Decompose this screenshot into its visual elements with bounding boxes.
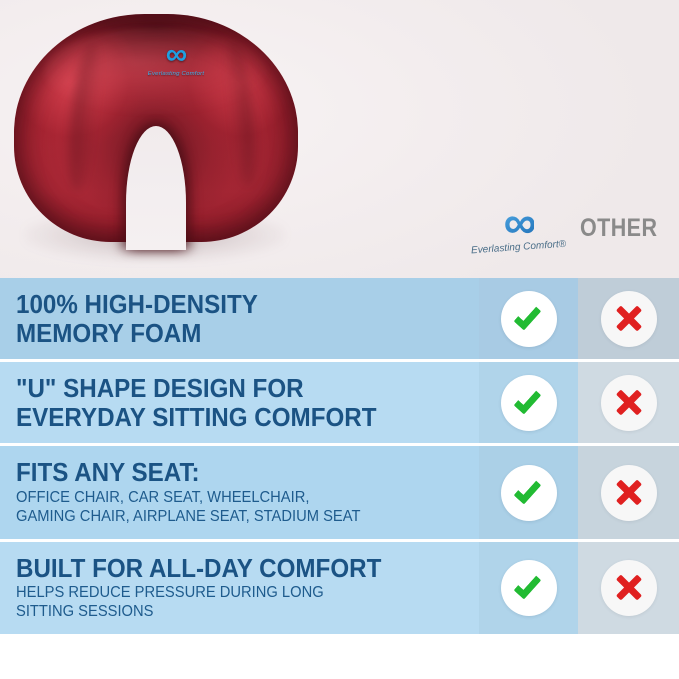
theirs-cell (578, 542, 679, 634)
theirs-cell (578, 446, 679, 538)
cushion-wordmark: Everlasting Comfort (148, 71, 205, 77)
feature-description-cell: FITS ANY SEAT: OFFICE CHAIR, CAR SEAT, W… (0, 446, 479, 538)
cushion-brand-logo: ∞ Everlasting Comfort (134, 42, 218, 90)
cross-icon (615, 479, 643, 507)
cushion-u-notch (126, 126, 186, 250)
cross-badge (601, 375, 657, 431)
cross-badge (601, 560, 657, 616)
feature-headline: BUILT FOR ALL-DAY COMFORT (16, 554, 447, 583)
feature-subtext: OFFICE CHAIR, CAR SEAT, WHEELCHAIR, GAMI… (16, 489, 456, 527)
check-badge (501, 375, 557, 431)
cross-badge (601, 465, 657, 521)
feature-description-cell: "U" SHAPE DESIGN FOR EVERYDAY SITTING CO… (0, 362, 479, 443)
feature-comparison-table: 100% HIGH-DENSITY MEMORY FOAM "U" SHAPE … (0, 278, 679, 679)
feature-description-cell: 100% HIGH-DENSITY MEMORY FOAM (0, 278, 479, 359)
cross-icon (615, 305, 643, 333)
check-badge (501, 465, 557, 521)
cross-badge (601, 291, 657, 347)
feature-headline: 100% HIGH-DENSITY MEMORY FOAM (16, 290, 323, 347)
check-icon (513, 301, 541, 330)
cross-icon (615, 389, 643, 417)
feature-headline: FITS ANY SEAT: (16, 458, 447, 487)
feature-subtext: HELPS REDUCE PRESSURE DURING LONG SITTIN… (16, 584, 456, 622)
table-row: "U" SHAPE DESIGN FOR EVERYDAY SITTING CO… (0, 362, 679, 446)
feature-description-cell: BUILT FOR ALL-DAY COMFORT HELPS REDUCE P… (0, 542, 479, 634)
seat-cushion-body: ∞ Everlasting Comfort (14, 14, 298, 242)
brand-wordmark: Everlasting Comfort® (471, 239, 567, 257)
check-icon (513, 571, 541, 600)
ours-cell (479, 542, 578, 634)
theirs-cell (578, 362, 679, 443)
brand-header: ∞ Everlasting Comfort® OTHER (470, 192, 670, 264)
product-image: ∞ Everlasting Comfort (6, 12, 306, 262)
infinity-icon: ∞ (504, 203, 535, 241)
infinity-icon: ∞ (166, 42, 186, 68)
feature-headline: "U" SHAPE DESIGN FOR EVERYDAY SITTING CO… (16, 374, 416, 431)
table-row: BUILT FOR ALL-DAY COMFORT HELPS REDUCE P… (0, 542, 679, 634)
hero-section: ∞ Everlasting Comfort ∞ Everlasting Comf… (0, 0, 679, 278)
table-row: 100% HIGH-DENSITY MEMORY FOAM (0, 278, 679, 362)
table-row: FITS ANY SEAT: OFFICE CHAIR, CAR SEAT, W… (0, 446, 679, 541)
ours-cell (479, 362, 578, 443)
check-icon (513, 386, 541, 415)
check-badge (501, 291, 557, 347)
check-icon (513, 475, 541, 504)
comparison-infographic: ∞ Everlasting Comfort ∞ Everlasting Comf… (0, 0, 679, 679)
competitor-label: OTHER (580, 214, 657, 243)
cross-icon (615, 574, 643, 602)
ours-cell (479, 278, 578, 359)
theirs-cell (578, 278, 679, 359)
everlasting-comfort-logo: ∞ Everlasting Comfort® (470, 203, 568, 253)
check-badge (501, 560, 557, 616)
ours-cell (479, 446, 578, 538)
